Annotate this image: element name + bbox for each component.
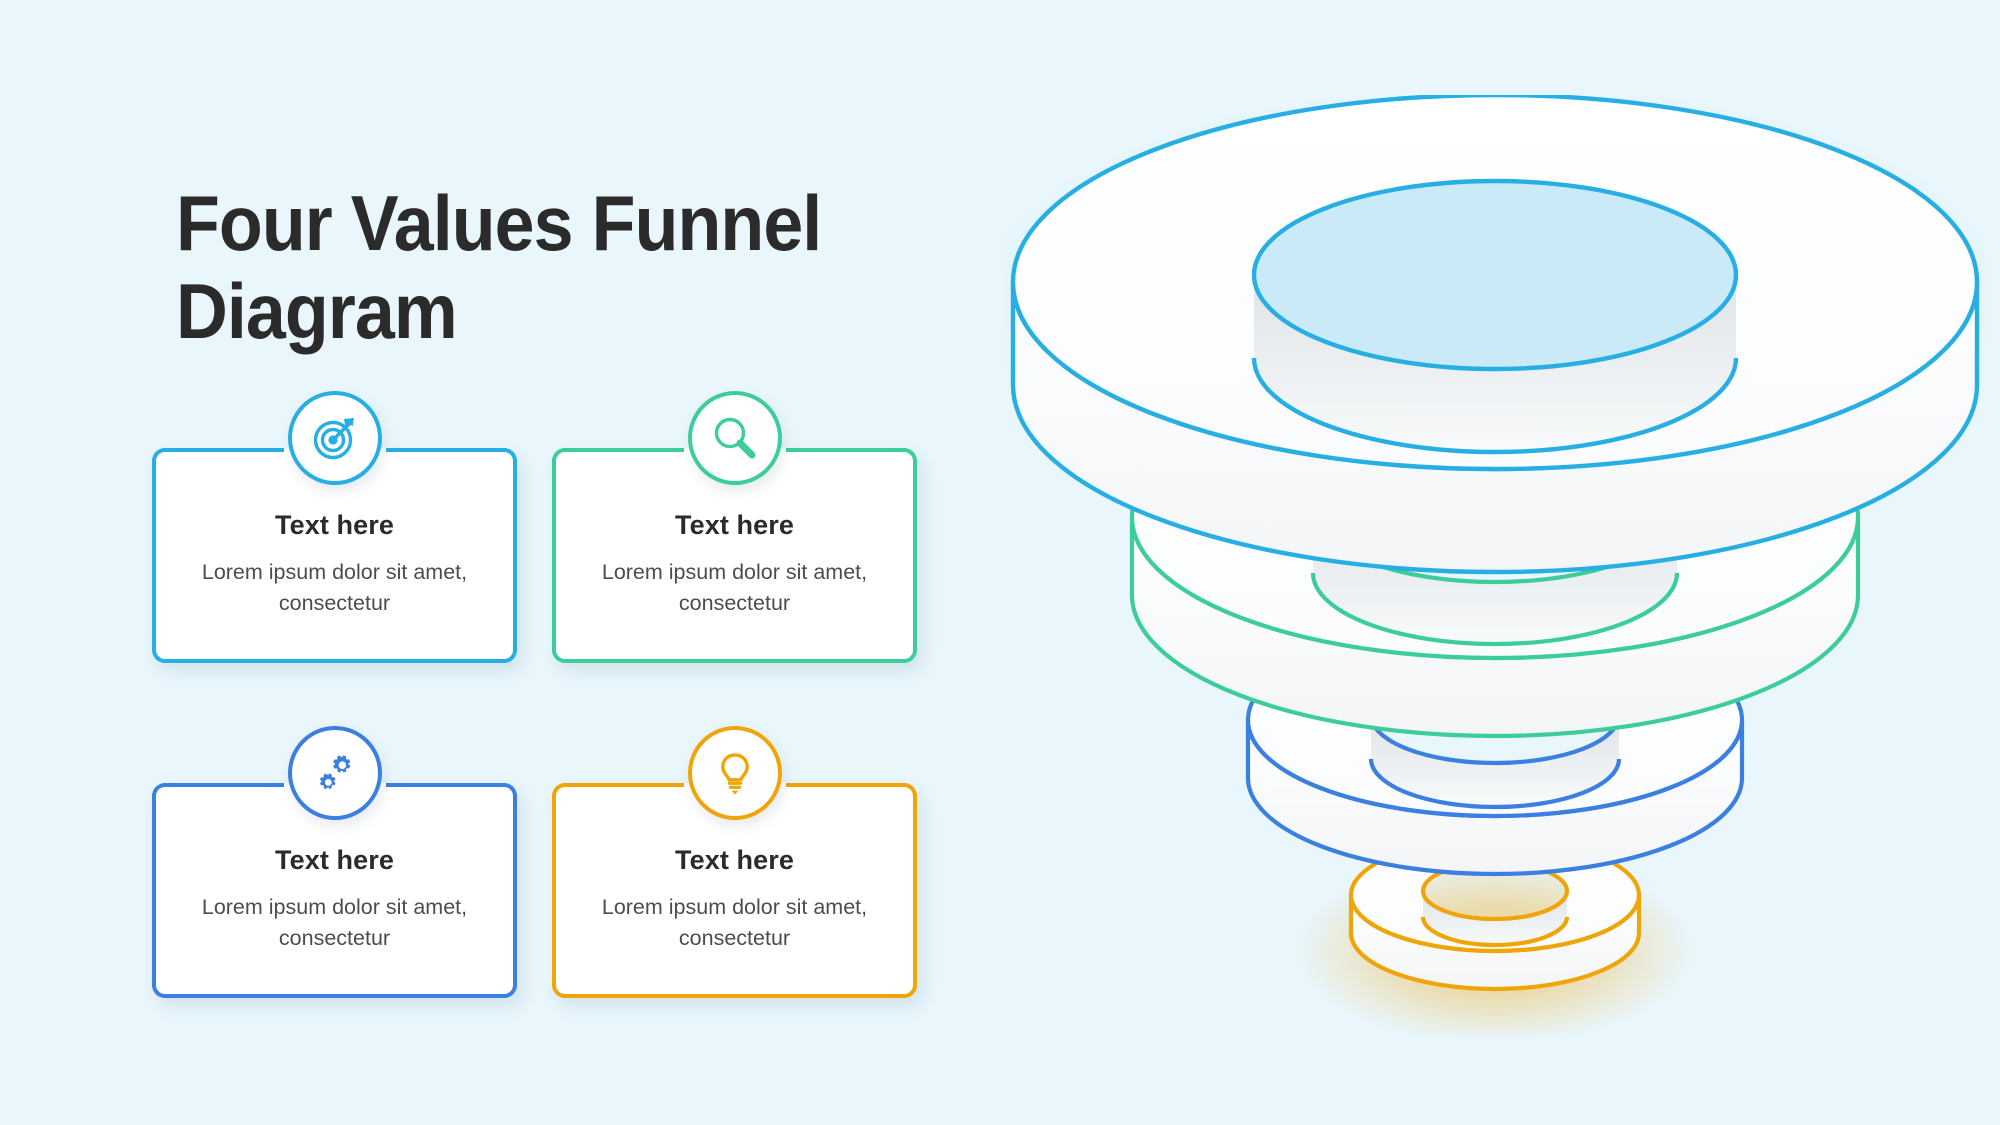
card-body: Text here Lorem ipsum dolor sit amet, co… [552,845,917,953]
card-edge-top-right [386,448,507,452]
card-edge-top-left [163,448,284,452]
card-body: Text here Lorem ipsum dolor sit amet, co… [152,845,517,953]
card-body: Text here Lorem ipsum dolor sit amet, co… [152,510,517,618]
gears-icon [309,747,361,799]
magnifier-icon-badge[interactable] [688,391,782,485]
card-edge-top-left [563,448,684,452]
card-edge-bottom [163,994,506,998]
card-edge-bottom [563,994,906,998]
card-edge-top-left [563,783,684,787]
page-title: Four Values Funnel Diagram [176,180,875,355]
card-title: Text here [574,845,895,876]
card-title: Text here [574,510,895,541]
card-description: Lorem ipsum dolor sit amet, consectetur [574,892,895,953]
slide-canvas: Four Values Funnel Diagram [0,0,2000,1125]
card-body: Text here Lorem ipsum dolor sit amet, co… [552,510,917,618]
target-icon [309,412,361,464]
card-slot-2: Text here Lorem ipsum dolor sit amet, co… [552,448,917,663]
funnel-rings-svg [1005,95,1985,1035]
card-slot-3: Text here Lorem ipsum dolor sit amet, co… [152,783,517,998]
gears-icon-badge[interactable] [288,726,382,820]
info-card-idea[interactable]: Text here Lorem ipsum dolor sit amet, co… [552,783,917,998]
card-title: Text here [174,510,495,541]
cards-grid: Text here Lorem ipsum dolor sit amet, co… [150,448,950,1008]
card-edge-bottom [563,659,906,663]
target-icon-badge[interactable] [288,391,382,485]
card-description: Lorem ipsum dolor sit amet, consectetur [574,557,895,618]
info-card-research[interactable]: Text here Lorem ipsum dolor sit amet, co… [552,448,917,663]
card-edge-top-left [163,783,284,787]
funnel-ring-1 [1005,95,1985,572]
card-description: Lorem ipsum dolor sit amet, consectetur [174,892,495,953]
card-edge-top-right [386,783,507,787]
info-card-target[interactable]: Text here Lorem ipsum dolor sit amet, co… [152,448,517,663]
card-slot-4: Text here Lorem ipsum dolor sit amet, co… [552,783,917,998]
info-card-process[interactable]: Text here Lorem ipsum dolor sit amet, co… [152,783,517,998]
lightbulb-icon-badge[interactable] [688,726,782,820]
card-title: Text here [174,845,495,876]
card-slot-1: Text here Lorem ipsum dolor sit amet, co… [152,448,517,663]
lightbulb-icon [709,747,761,799]
card-edge-bottom [163,659,506,663]
magnifier-icon [709,412,761,464]
funnel-diagram [1005,95,1985,1035]
card-edge-top-right [786,783,907,787]
card-description: Lorem ipsum dolor sit amet, consectetur [174,557,495,618]
card-edge-top-right [786,448,907,452]
